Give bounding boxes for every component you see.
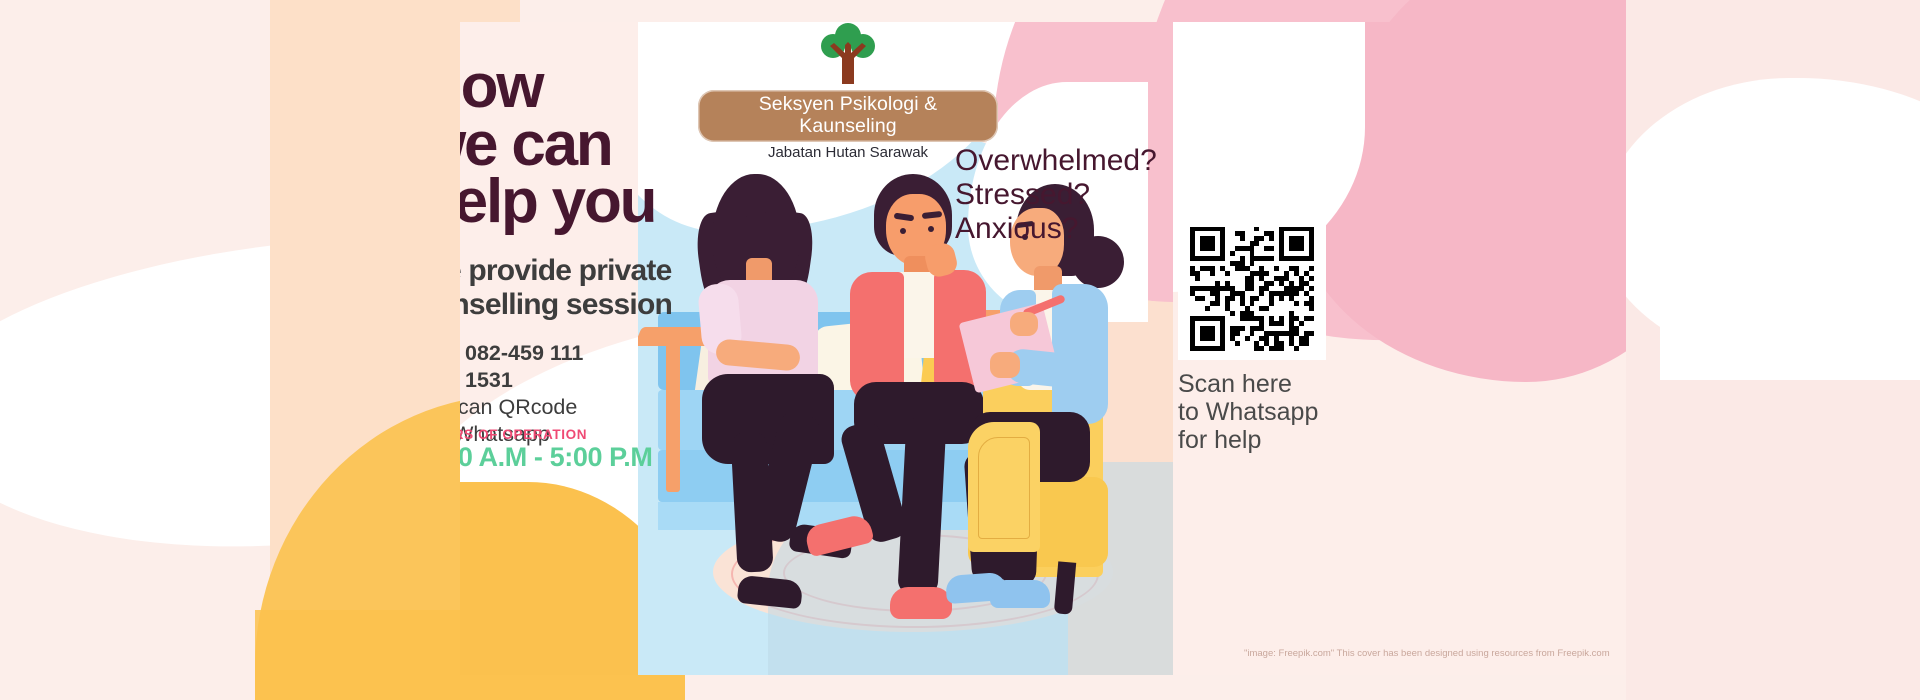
counsellor-hand-holding-board (990, 352, 1020, 378)
subheading: We provide private conselling session (460, 254, 708, 322)
counsellor-hand-with-pen (1010, 312, 1038, 336)
organisation-logo: Seksyen Psikologi & Kaunseling Jabatan H… (698, 22, 998, 161)
client-man-shoe-down (890, 587, 952, 619)
poster-canvas: Seksyen Psikologi & Kaunseling Jabatan H… (0, 0, 1920, 700)
headline-line-2: we can (460, 116, 718, 174)
question-stressed: Stressed? (955, 178, 1157, 212)
extension-value: ext. 1531 (460, 368, 513, 392)
contact-call-line: Call 082-459 111 (460, 340, 672, 367)
hours-value: 9:00 A.M - 5:00 P.M (460, 442, 653, 473)
image-credit: "image: Freepik.com" This cover has been… (1244, 648, 1610, 659)
client-man-eye-left (900, 228, 906, 234)
qr-caption-line-1: Scan here (1178, 370, 1358, 398)
client-woman-leg-back (730, 431, 773, 573)
poster-card: Seksyen Psikologi & Kaunseling Jabatan H… (460, 22, 1626, 675)
headline-line-1: How (460, 58, 718, 116)
client-man-eye-right (928, 226, 934, 232)
qr-code[interactable] (1178, 217, 1326, 360)
subheading-line-1: We provide private (460, 254, 708, 288)
phone-number[interactable]: 082-459 111 (465, 341, 583, 365)
client-woman-eye (756, 225, 762, 231)
question-anxious: Anxious? (955, 212, 1157, 246)
headline-line-3: help you (460, 173, 718, 231)
contact-extension: ext. 1531 (460, 367, 672, 394)
armchair-armrest-detail (978, 437, 1030, 539)
qr-caption-line-3: for help (1178, 426, 1358, 454)
hours-label: HOURS OF OPERATION (460, 427, 587, 442)
contact-instruction-1: or scan QRcode (460, 394, 672, 421)
background-white-band-right (1660, 150, 1920, 380)
page-title: How we can help you (460, 58, 718, 231)
qr-caption: Scan here to Whatsapp for help (1178, 370, 1358, 454)
qr-caption-line-2: to Whatsapp (1178, 398, 1358, 426)
counsellor-shoe-right (990, 580, 1050, 608)
qr-code-matrix (1190, 227, 1314, 351)
subheading-line-2: conselling session (460, 288, 708, 322)
logo-banner-text: Seksyen Psikologi & Kaunseling (698, 90, 998, 142)
logo-subtitle: Jabatan Hutan Sarawak (698, 144, 998, 161)
tree-icon (812, 22, 884, 90)
